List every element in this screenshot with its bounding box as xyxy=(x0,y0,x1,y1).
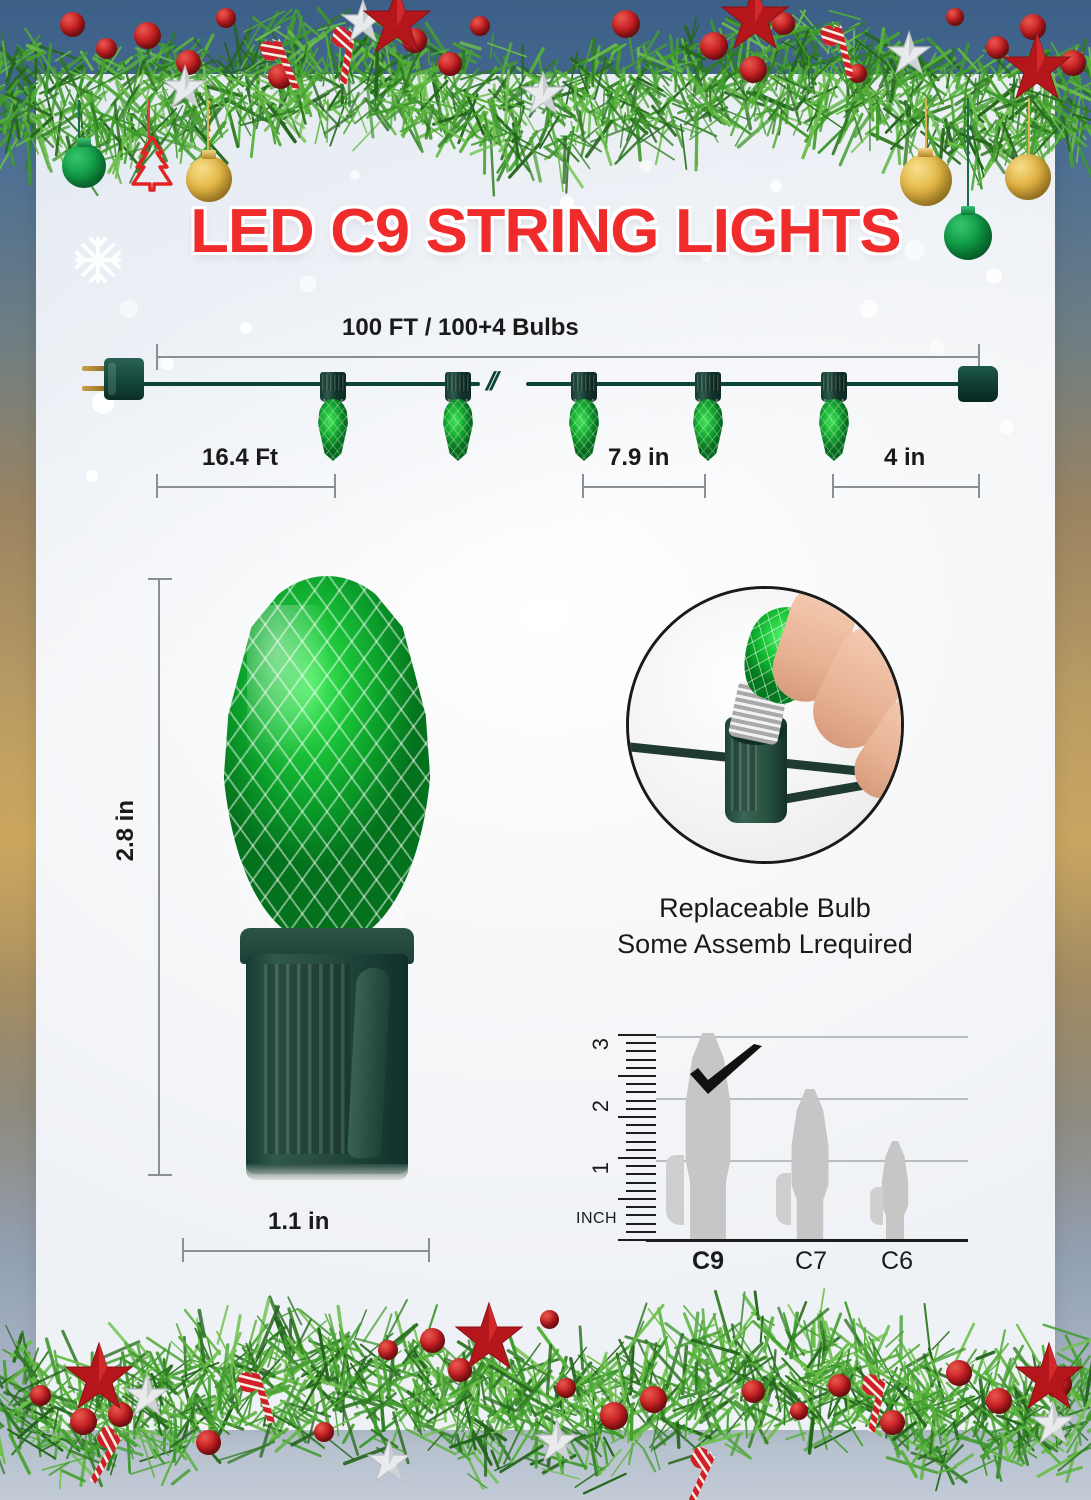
sizechart-bulb-c9-clip xyxy=(666,1155,684,1225)
ruler-tick-minor xyxy=(626,1132,656,1134)
ruler-tick-minor xyxy=(626,1124,656,1126)
sizechart-bulb-c7 xyxy=(788,1089,832,1239)
page-title: LED C9 STRING LIGHTS xyxy=(0,196,1091,267)
bulb-socket-base xyxy=(246,954,408,1174)
ruler-tick-minor xyxy=(626,1231,656,1233)
sizechart-baseline xyxy=(646,1239,968,1242)
red-tree-outline-icon xyxy=(130,134,174,192)
socket-rim xyxy=(246,1164,408,1180)
lead-dim-tick-right xyxy=(334,474,336,498)
bulb-width-label: 1.1 in xyxy=(268,1208,329,1236)
tail-dim-line xyxy=(832,486,980,488)
ornament-gold-ball-cap xyxy=(202,150,216,159)
height-dim-tick-top xyxy=(148,578,172,580)
female-connector-icon xyxy=(958,366,998,402)
sizechart-bulb-c6 xyxy=(880,1141,910,1239)
sizechart-label-c7: C7 xyxy=(776,1247,846,1276)
inset-caption-line1: Replaceable Bulb xyxy=(505,890,1025,926)
snow-dot xyxy=(300,276,316,292)
inset-caption: Replaceable Bulb Some Assemb Lrequired xyxy=(505,890,1025,963)
ornament-gold-far-right-body xyxy=(1005,154,1051,200)
sizechart-label-c9: C9 xyxy=(672,1247,744,1276)
ruler-tick-minor xyxy=(626,1067,656,1069)
snow-dot xyxy=(430,130,440,140)
sizechart-label-c6: C6 xyxy=(866,1247,928,1276)
inset-caption-line2: Some Assemb Lrequired xyxy=(505,926,1025,962)
replaceable-bulb-inset xyxy=(626,586,904,864)
pitch-dim-line xyxy=(582,486,706,488)
ruler-tick-minor xyxy=(626,1059,656,1061)
bulb-faceted-glass xyxy=(222,576,432,941)
spacing-label-tail: 4 in xyxy=(884,444,925,472)
socket-clip xyxy=(347,968,391,1158)
ruler-tick-minor xyxy=(626,1100,656,1102)
pitch-dim-tick-left xyxy=(582,474,584,498)
infographic-stage: LED C9 STRING LIGHTS 100 FT / 100+4 Bulb… xyxy=(0,0,1091,1500)
total-length-label: 100 FT / 100+4 Bulbs xyxy=(342,314,579,342)
ruler-tick-minor xyxy=(626,1108,656,1110)
ruler-tick-major xyxy=(618,1157,656,1159)
total-dim-tick-left xyxy=(156,344,158,370)
snow-dot xyxy=(986,268,1002,284)
width-dim-line xyxy=(182,1250,430,1252)
string-light-diagram: 100 FT / 100+4 Bulbs // xyxy=(60,314,1040,524)
ruler-tick-minor xyxy=(626,1223,656,1225)
sizechart-bulb-c7-clip xyxy=(776,1173,791,1225)
snow-dot xyxy=(350,170,360,180)
main-bulb-photo xyxy=(212,576,442,1186)
ruler-tick-minor xyxy=(626,1083,656,1085)
ruler-tick-major xyxy=(618,1075,656,1077)
lead-dim-line xyxy=(156,486,336,488)
ruler-tick-major xyxy=(618,1239,656,1241)
ruler-tick-minor xyxy=(626,1050,656,1052)
sizechart-bulb-c6-clip xyxy=(870,1187,883,1225)
break-symbol: // xyxy=(483,366,500,397)
ornament-green-ball-body xyxy=(62,144,106,188)
size-comparison-chart: 3 2 1 INCH C9 C7 C6 xyxy=(568,1020,968,1280)
width-dim-tick-left xyxy=(182,1238,184,1262)
ruler-tick-minor xyxy=(626,1165,656,1167)
tail-dim-tick-left xyxy=(832,474,834,498)
ruler-tick-minor xyxy=(626,1091,656,1093)
total-dim-line xyxy=(156,356,980,358)
sizechart-tick-1: 1 xyxy=(588,1162,614,1174)
snow-dot xyxy=(770,180,782,192)
ruler-tick-major xyxy=(618,1034,656,1036)
sizechart-tick-2: 2 xyxy=(588,1100,614,1112)
ruler-tick-minor xyxy=(626,1214,656,1216)
ornament-red-tree-string xyxy=(148,100,150,138)
ruler-tick-minor xyxy=(626,1042,656,1044)
ruler-tick-minor xyxy=(626,1173,656,1175)
ornament-green-ball-cap xyxy=(77,138,91,147)
lead-dim-tick-left xyxy=(156,474,158,498)
width-dim-tick-right xyxy=(428,1238,430,1262)
bulb-height-label: 2.8 in xyxy=(112,800,140,861)
pitch-dim-tick-right xyxy=(704,474,706,498)
height-dim-line xyxy=(158,578,160,1176)
ruler-tick-minor xyxy=(626,1141,656,1143)
light-string-wire xyxy=(130,382,480,386)
ruler-tick-major xyxy=(618,1198,656,1200)
tail-dim-tick-right xyxy=(978,474,980,498)
ruler-tick-minor xyxy=(626,1190,656,1192)
sizechart-unit-label: INCH xyxy=(576,1210,617,1228)
ruler-tick-minor xyxy=(626,1206,656,1208)
snow-dot xyxy=(640,160,652,172)
checkmark-icon xyxy=(686,1044,766,1102)
spacing-label-pitch: 7.9 in xyxy=(608,444,669,472)
ruler-tick-minor xyxy=(626,1149,656,1151)
ruler-tick-minor xyxy=(626,1182,656,1184)
sizechart-tick-3: 3 xyxy=(588,1038,614,1050)
spacing-label-lead: 16.4 Ft xyxy=(202,444,278,472)
height-dim-tick-bottom xyxy=(148,1174,172,1176)
ornament-gold-far-right-string xyxy=(1028,98,1030,160)
ruler-tick-major xyxy=(618,1116,656,1118)
ornament-gold-right-cap xyxy=(918,148,933,157)
